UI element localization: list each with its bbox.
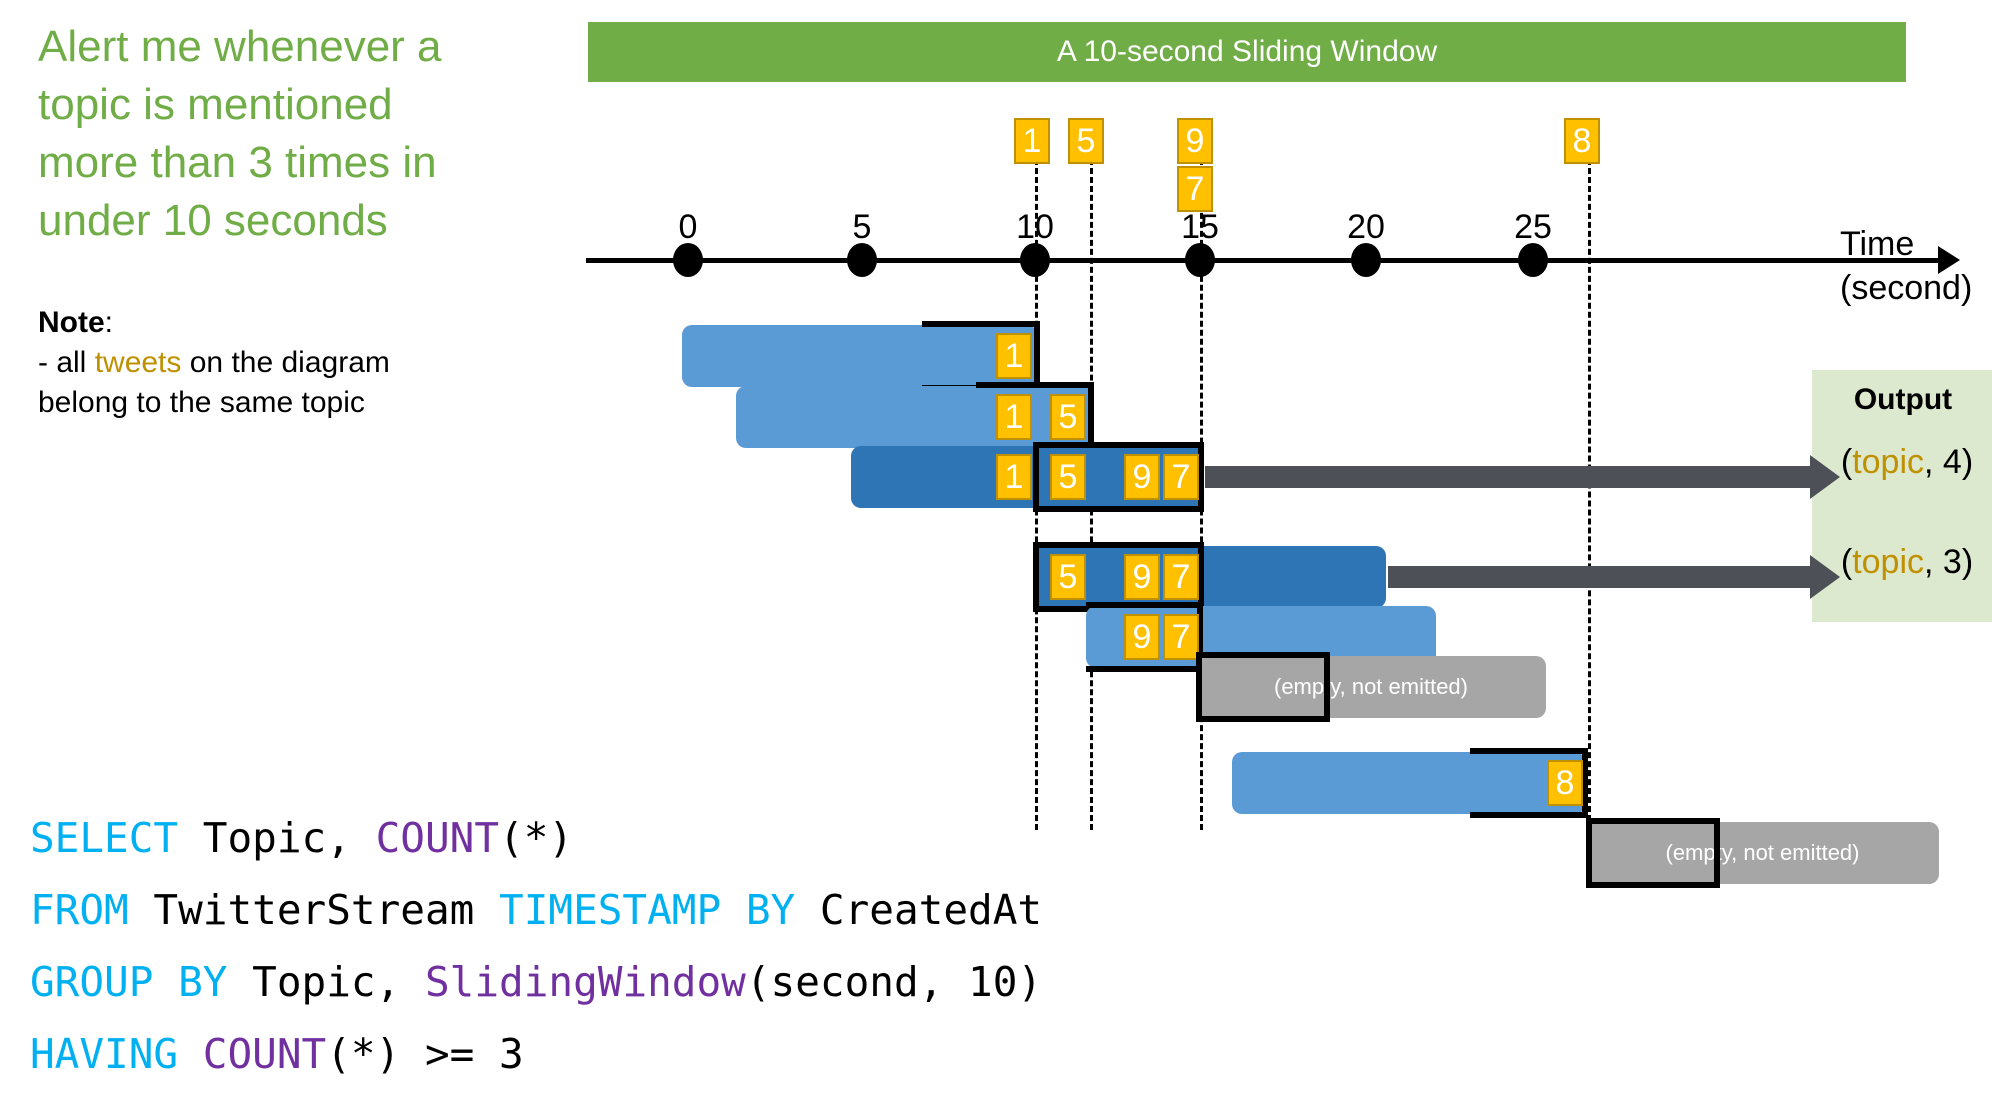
axis-tick-label-5: 5: [822, 208, 902, 247]
output-row-0-topic: topic: [1852, 443, 1924, 481]
window-4-bracket-top: [1033, 542, 1204, 548]
window-3-tweet-9: 9: [1124, 454, 1160, 500]
window-7-tweet-8: 8: [1547, 760, 1583, 806]
window-1-bracket-top: [922, 321, 1040, 327]
axis-tick-dot-20: [1351, 243, 1381, 277]
window-2-tweet-5: 5: [1050, 394, 1086, 440]
window-2-bar: [736, 386, 1092, 448]
window-4-bracket-left: [1033, 542, 1039, 612]
window-7-bar: [1232, 752, 1585, 814]
window-4-tweet-9: 9: [1124, 554, 1160, 600]
axis-tick-label-0: 0: [648, 208, 728, 247]
window-3-tweet-7: 7: [1163, 454, 1199, 500]
window-5-bracket-top: [1086, 602, 1203, 608]
window-5-tweet-9: 9: [1124, 614, 1160, 660]
window-4-output-arrow: [1388, 566, 1810, 588]
output-row-1: (topic, 3): [1812, 543, 1992, 582]
window-8-bracket-right: [1714, 818, 1720, 888]
tweet-badge-8: 8: [1564, 118, 1600, 164]
tweet-badge-9: 9: [1177, 118, 1213, 164]
window-8-bar: (empty, not emitted): [1586, 822, 1939, 884]
dashed-line-25.5: [1588, 150, 1591, 830]
window-5-tweet-7: 7: [1163, 614, 1199, 660]
output-row-0-count: , 4): [1924, 443, 1973, 481]
window-7-bracket-bottom: [1470, 812, 1588, 818]
window-1-tweet-1: 1: [996, 333, 1032, 379]
window-8-bracket-bottom: [1586, 882, 1720, 888]
time-axis-label-line1: Time: [1840, 222, 1992, 266]
window-1-bar: [682, 325, 1037, 387]
window-6-bar: (empty, not emitted): [1196, 656, 1546, 718]
window-3-bracket-top: [1033, 442, 1204, 448]
tweet-badge-1: 1: [1014, 118, 1050, 164]
axis-tick-dot-0: [673, 243, 703, 277]
window-3-tweet-5: 5: [1050, 454, 1086, 500]
time-axis-label-line2: (second): [1840, 266, 1992, 310]
window-3-tweet-1: 1: [996, 454, 1032, 500]
window-2-bracket-top: [976, 382, 1094, 388]
output-row-0: (topic, 4): [1812, 443, 1992, 482]
tweet-badge-7: 7: [1177, 166, 1213, 212]
axis-tick-dot-5: [847, 243, 877, 277]
output-row-1-count: , 3): [1924, 543, 1973, 581]
timeline-diagram: [0, 0, 1992, 1117]
axis-tick-dot-25: [1518, 243, 1548, 277]
time-axis-line: [586, 258, 1940, 263]
output-row-1-open: (: [1841, 543, 1852, 581]
axis-tick-label-20: 20: [1326, 208, 1406, 247]
time-axis-label: Time (second): [1840, 222, 1992, 310]
window-5-bracket-bottom: [1086, 666, 1203, 672]
window-8-bracket-left: [1586, 818, 1592, 888]
window-7-bracket-top: [1470, 748, 1588, 754]
window-1-bracket-right: [1034, 321, 1040, 391]
tweet-badge-5: 5: [1068, 118, 1104, 164]
window-6-bracket-right: [1324, 652, 1330, 722]
window-3-bracket-left: [1033, 442, 1039, 512]
window-6-bracket-bottom: [1196, 716, 1330, 722]
window-6-empty-label: (empty, not emitted): [1196, 656, 1546, 718]
window-4-tweet-5: 5: [1050, 554, 1086, 600]
window-8-bracket-top: [1586, 818, 1720, 824]
output-row-1-topic: topic: [1852, 543, 1924, 581]
window-2-tweet-1: 1: [996, 394, 1032, 440]
window-8-empty-label: (empty, not emitted): [1586, 822, 1939, 884]
window-6-bracket-top: [1196, 652, 1330, 658]
output-row-0-open: (: [1841, 443, 1852, 481]
window-3-bracket-bottom: [1033, 506, 1204, 512]
window-4-tweet-7: 7: [1163, 554, 1199, 600]
axis-tick-label-25: 25: [1493, 208, 1573, 247]
window-6-bracket-left: [1196, 652, 1202, 722]
output-panel-title: Output: [1812, 383, 1992, 417]
window-3-output-arrow: [1205, 466, 1810, 488]
